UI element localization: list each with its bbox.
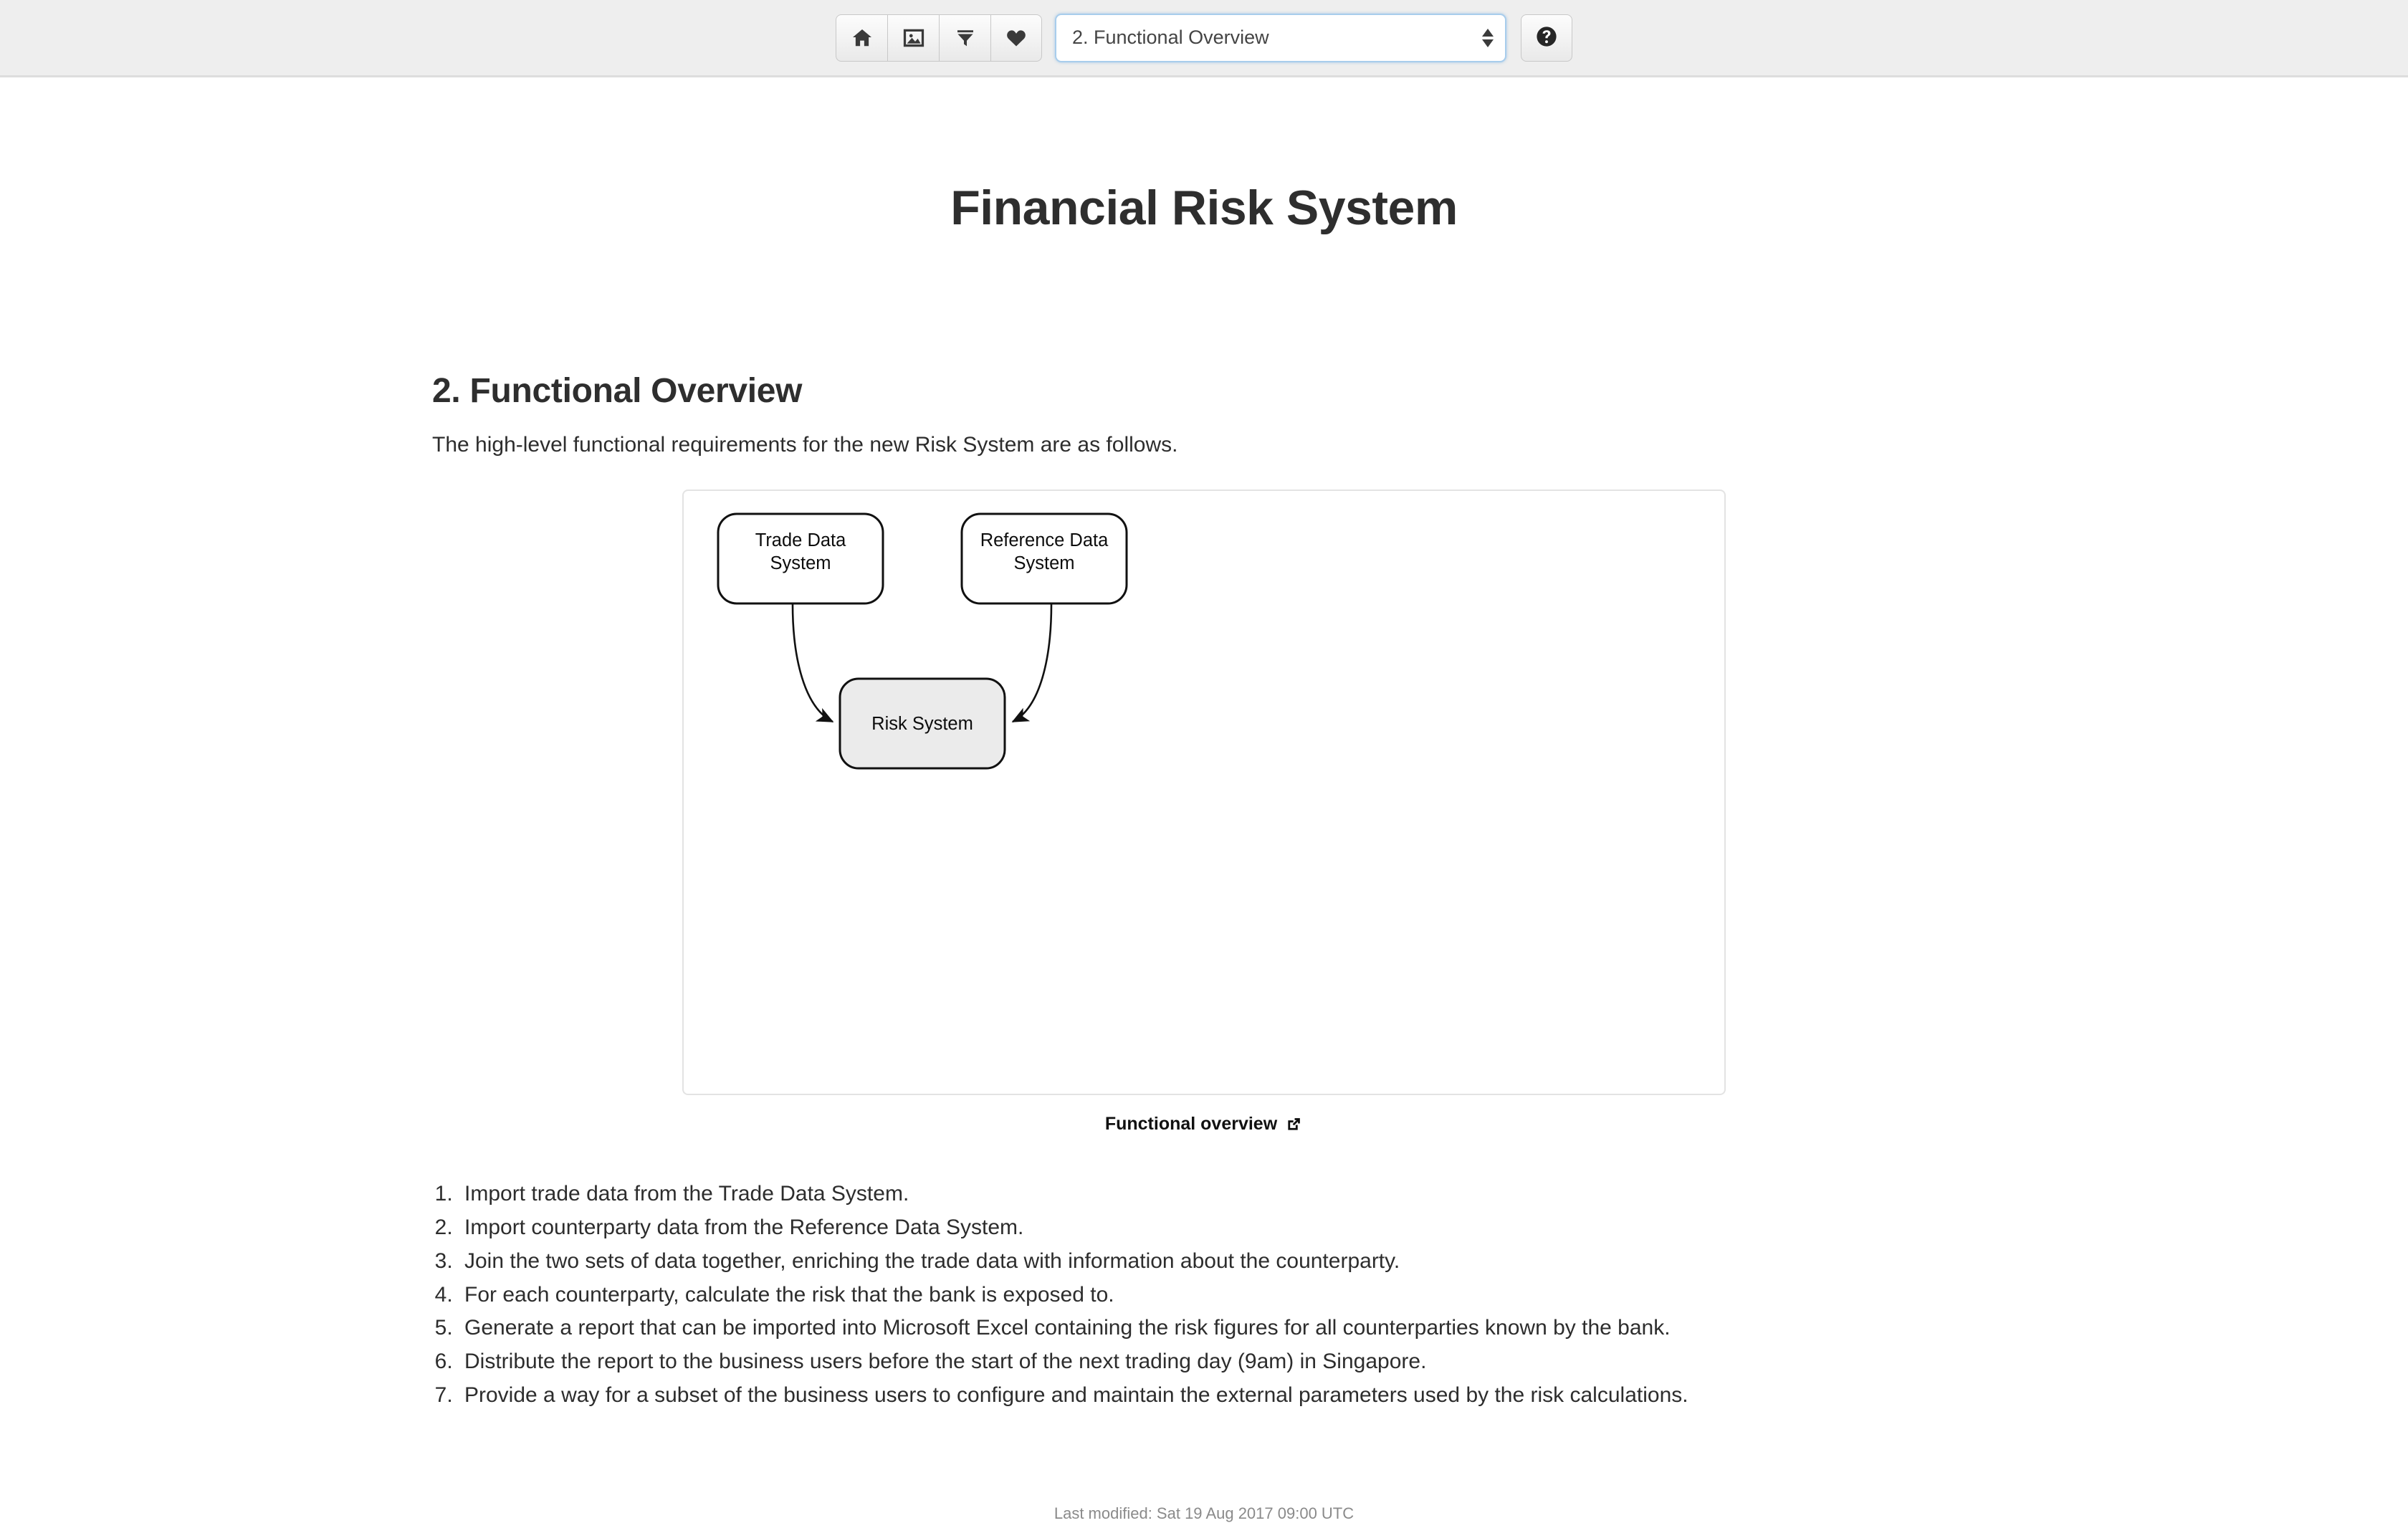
top-toolbar: 2. Functional Overview <box>0 0 2408 77</box>
filter-button[interactable] <box>939 14 990 62</box>
document-content: 2. Functional Overview The high-level fu… <box>401 371 2007 1523</box>
favourites-button[interactable] <box>990 14 1042 62</box>
section-heading: 2. Functional Overview <box>432 371 2007 411</box>
section-select[interactable]: 2. Functional Overview <box>1055 14 1506 62</box>
image-icon <box>903 27 924 49</box>
heart-icon <box>1005 27 1027 49</box>
figure-caption[interactable]: Functional overview <box>682 1114 1726 1135</box>
home-button[interactable] <box>836 14 887 62</box>
functional-overview-diagram: Trade Data System Reference Data System … <box>684 491 1724 1094</box>
node-trade-data-system: Trade Data System <box>718 514 883 603</box>
node-reference-label-2: System <box>1013 553 1074 573</box>
figure-frame: Trade Data System Reference Data System … <box>682 490 1726 1095</box>
help-circle-icon <box>1535 25 1558 50</box>
list-item: Provide a way for a subset of the busine… <box>459 1379 2007 1413</box>
section-select-value: 2. Functional Overview <box>1072 27 1269 49</box>
page-title: Financial Risk System <box>0 181 2408 235</box>
list-item: Join the two sets of data together, enri… <box>459 1245 2007 1279</box>
figure-caption-text: Functional overview <box>1105 1114 1277 1135</box>
node-risk-system: Risk System <box>840 679 1005 768</box>
node-reference-data-system: Reference Data System <box>962 514 1127 603</box>
node-risk-label-1: Risk System <box>871 714 973 734</box>
section-select-wrapper: 2. Functional Overview <box>1055 14 1506 62</box>
node-trade-label-2: System <box>770 553 831 573</box>
list-item: Import counterparty data from the Refere… <box>459 1211 2007 1245</box>
help-button[interactable] <box>1521 14 1572 62</box>
toolbar-inner: 2. Functional Overview <box>836 14 1572 62</box>
requirements-list: Import trade data from the Trade Data Sy… <box>401 1178 2007 1413</box>
toolbar-button-group <box>836 14 1042 62</box>
home-icon <box>851 27 873 49</box>
list-item: Import trade data from the Trade Data Sy… <box>459 1178 2007 1211</box>
node-reference-label-1: Reference Data <box>980 530 1109 550</box>
edge-reference-to-risk <box>1013 604 1051 722</box>
edge-trade-to-risk <box>793 604 833 722</box>
last-modified-footer: Last modified: Sat 19 Aug 2017 09:00 UTC <box>401 1504 2007 1523</box>
node-trade-label-1: Trade Data <box>755 530 846 550</box>
list-item: Generate a report that can be imported i… <box>459 1312 2007 1345</box>
external-link-icon[interactable] <box>1285 1115 1303 1133</box>
filter-icon <box>955 27 976 49</box>
functional-overview-figure: Trade Data System Reference Data System … <box>682 490 1726 1135</box>
list-item: Distribute the report to the business us… <box>459 1345 2007 1379</box>
images-button[interactable] <box>887 14 939 62</box>
document-page: Financial Risk System 2. Functional Over… <box>0 181 2408 1523</box>
section-intro: The high-level functional requirements f… <box>432 431 2007 460</box>
list-item: For each counterparty, calculate the ris… <box>459 1279 2007 1312</box>
